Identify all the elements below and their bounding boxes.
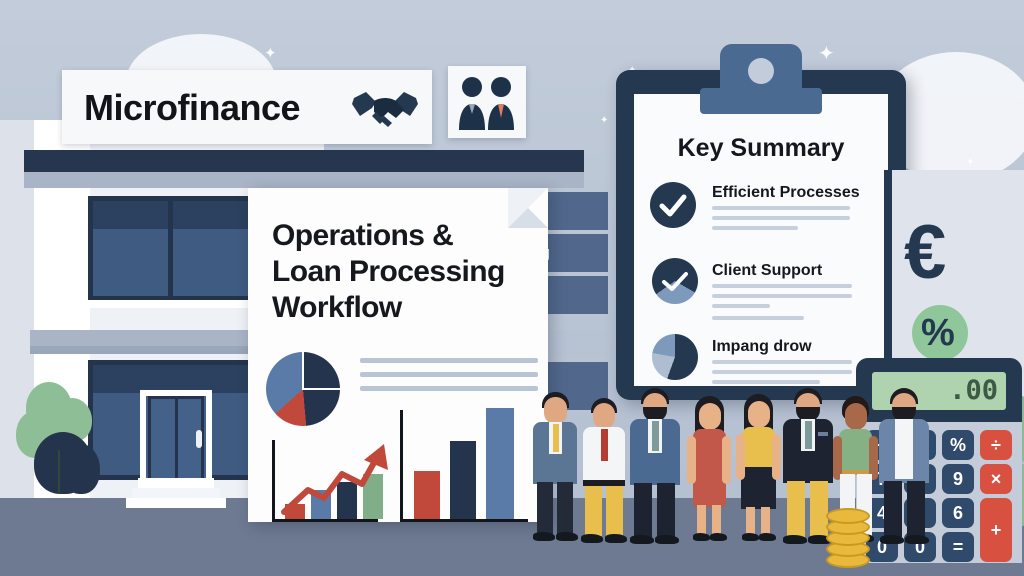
tie-shape: [805, 421, 812, 449]
bar-chart-1-y-axis: [272, 440, 275, 522]
document-text-line: [360, 386, 538, 391]
leg-shape: [787, 481, 805, 537]
arm-shape: [722, 436, 731, 484]
tie-shape: [601, 429, 608, 461]
bar-chart-2-bar: [486, 408, 514, 519]
leg-shape: [761, 507, 770, 535]
sparkle-icon: ✦: [966, 158, 974, 168]
trend-arrow-icon: [278, 440, 390, 518]
summary-item-line: [712, 360, 852, 364]
calculator-key-[interactable]: =: [942, 532, 974, 562]
bar-chart-2-x-axis: [400, 519, 528, 522]
pie-chart-separator: [302, 388, 340, 390]
leg-shape: [537, 482, 553, 534]
shoe-shape: [655, 535, 679, 544]
summary-item-label-3: Impang drow: [712, 338, 812, 356]
calculator-key-[interactable]: +: [980, 498, 1012, 562]
skirt-shape: [741, 467, 776, 509]
shoe-shape: [905, 535, 929, 544]
person-figure: [684, 396, 734, 544]
person-figure: [780, 388, 836, 544]
leg-shape: [657, 483, 675, 537]
roof-band: [24, 150, 584, 172]
check-mark-icon: [652, 258, 698, 304]
clipboard-clip-bar: [700, 88, 822, 114]
arm-shape: [736, 434, 745, 480]
head-shape: [699, 403, 721, 430]
tie-shape: [553, 424, 559, 452]
document-title: Operations & Loan Processing Workflow: [272, 218, 544, 326]
window-mullion: [168, 196, 173, 301]
leg-shape: [557, 482, 573, 534]
person-figure: [876, 388, 932, 544]
handshake-icon: [352, 86, 418, 130]
window-lower-tint: [93, 365, 251, 393]
leg-shape: [697, 505, 706, 535]
calculator-key-6[interactable]: 6: [942, 498, 974, 528]
check-mark-icon: [650, 182, 696, 228]
shirt-shape: [895, 419, 913, 479]
head-shape: [544, 397, 567, 424]
leg-shape: [712, 505, 721, 535]
summary-item-line: [712, 206, 850, 210]
shoe-shape: [710, 533, 727, 541]
two-business-people-icon: [456, 74, 518, 130]
bush-leaf-dark: [62, 444, 100, 494]
calculator-key-[interactable]: ×: [980, 464, 1012, 494]
head-shape: [593, 403, 615, 429]
bar-chart-2-bar: [414, 471, 440, 519]
shoe-shape: [630, 535, 654, 544]
shoe-shape: [880, 535, 904, 544]
document-title-line-3: Workflow: [272, 290, 544, 326]
tie-shape: [652, 421, 659, 451]
bar-chart-1-x-axis: [272, 519, 378, 522]
roof-band-secondary: [24, 172, 584, 188]
sparkle-icon: ✦: [264, 46, 277, 61]
summary-item-label-1: Efficient Processes: [712, 184, 860, 202]
summary-item-line: [712, 370, 852, 374]
shoe-shape: [556, 532, 578, 541]
summary-item-line: [712, 316, 804, 320]
leg-shape: [746, 507, 755, 535]
shoe-shape: [693, 533, 710, 541]
document-title-line-1: Operations &: [272, 218, 544, 254]
door-handle-icon[interactable]: [196, 430, 202, 448]
summary-item-line: [712, 226, 798, 230]
clipboard-clip-hole: [748, 58, 774, 84]
pie-chart-icon: [652, 334, 698, 380]
bar-chart-2-y-axis: [400, 410, 403, 522]
leg-shape: [634, 483, 652, 537]
shoe-shape: [759, 533, 776, 541]
head-shape: [845, 403, 867, 430]
pie-chart-separator: [302, 352, 304, 389]
leg-shape: [810, 481, 828, 537]
top-shape: [839, 429, 872, 473]
person-figure: [528, 392, 582, 542]
entrance-step: [132, 488, 220, 498]
sparkle-icon: ✦: [600, 116, 608, 126]
percent-symbol-icon: %: [921, 312, 955, 354]
leg-shape: [907, 481, 925, 537]
head-shape: [748, 401, 770, 428]
leg-shape: [585, 486, 602, 536]
person-figure: [626, 388, 684, 544]
document-text-line: [360, 372, 538, 377]
entrance-step: [138, 478, 214, 488]
shoe-shape: [533, 532, 555, 541]
summary-item-label-2: Client Support: [712, 262, 822, 280]
summary-item-line: [712, 216, 850, 220]
key-summary-heading: Key Summary: [634, 134, 888, 163]
illustration-canvas: ✦ ✦ ✦ ✦ ✦ Microfinance: [0, 0, 1024, 576]
arm-shape: [687, 436, 696, 484]
leg-shape: [606, 486, 623, 536]
summary-item-line: [712, 380, 820, 384]
shoe-shape: [742, 533, 759, 541]
euro-symbol-icon: €: [904, 215, 946, 291]
microfinance-sign-label: Microfinance: [84, 84, 334, 132]
sparkle-icon: ✦: [818, 44, 835, 64]
summary-item-line: [712, 294, 852, 298]
calculator-key-[interactable]: %: [942, 430, 974, 460]
shoe-shape: [605, 534, 627, 543]
summary-item-line: [712, 304, 770, 308]
document-title-line-2: Loan Processing: [272, 254, 544, 290]
shoe-shape: [783, 535, 807, 544]
window-sill: [80, 300, 262, 308]
bush-stem: [58, 450, 60, 494]
calculator-key-[interactable]: ÷: [980, 430, 1012, 460]
document-text-line: [360, 358, 538, 363]
top-shape: [742, 427, 775, 469]
summary-item-line: [712, 284, 852, 288]
pocket-square-icon: [818, 432, 828, 436]
person-figure: [732, 394, 784, 544]
leg-shape: [884, 481, 902, 537]
person-figure: [578, 398, 630, 544]
entrance-step: [126, 498, 226, 508]
calculator-key-9[interactable]: 9: [942, 464, 974, 494]
bar-chart-2-bar: [450, 441, 476, 519]
coin: [826, 508, 870, 524]
shoe-shape: [581, 534, 603, 543]
